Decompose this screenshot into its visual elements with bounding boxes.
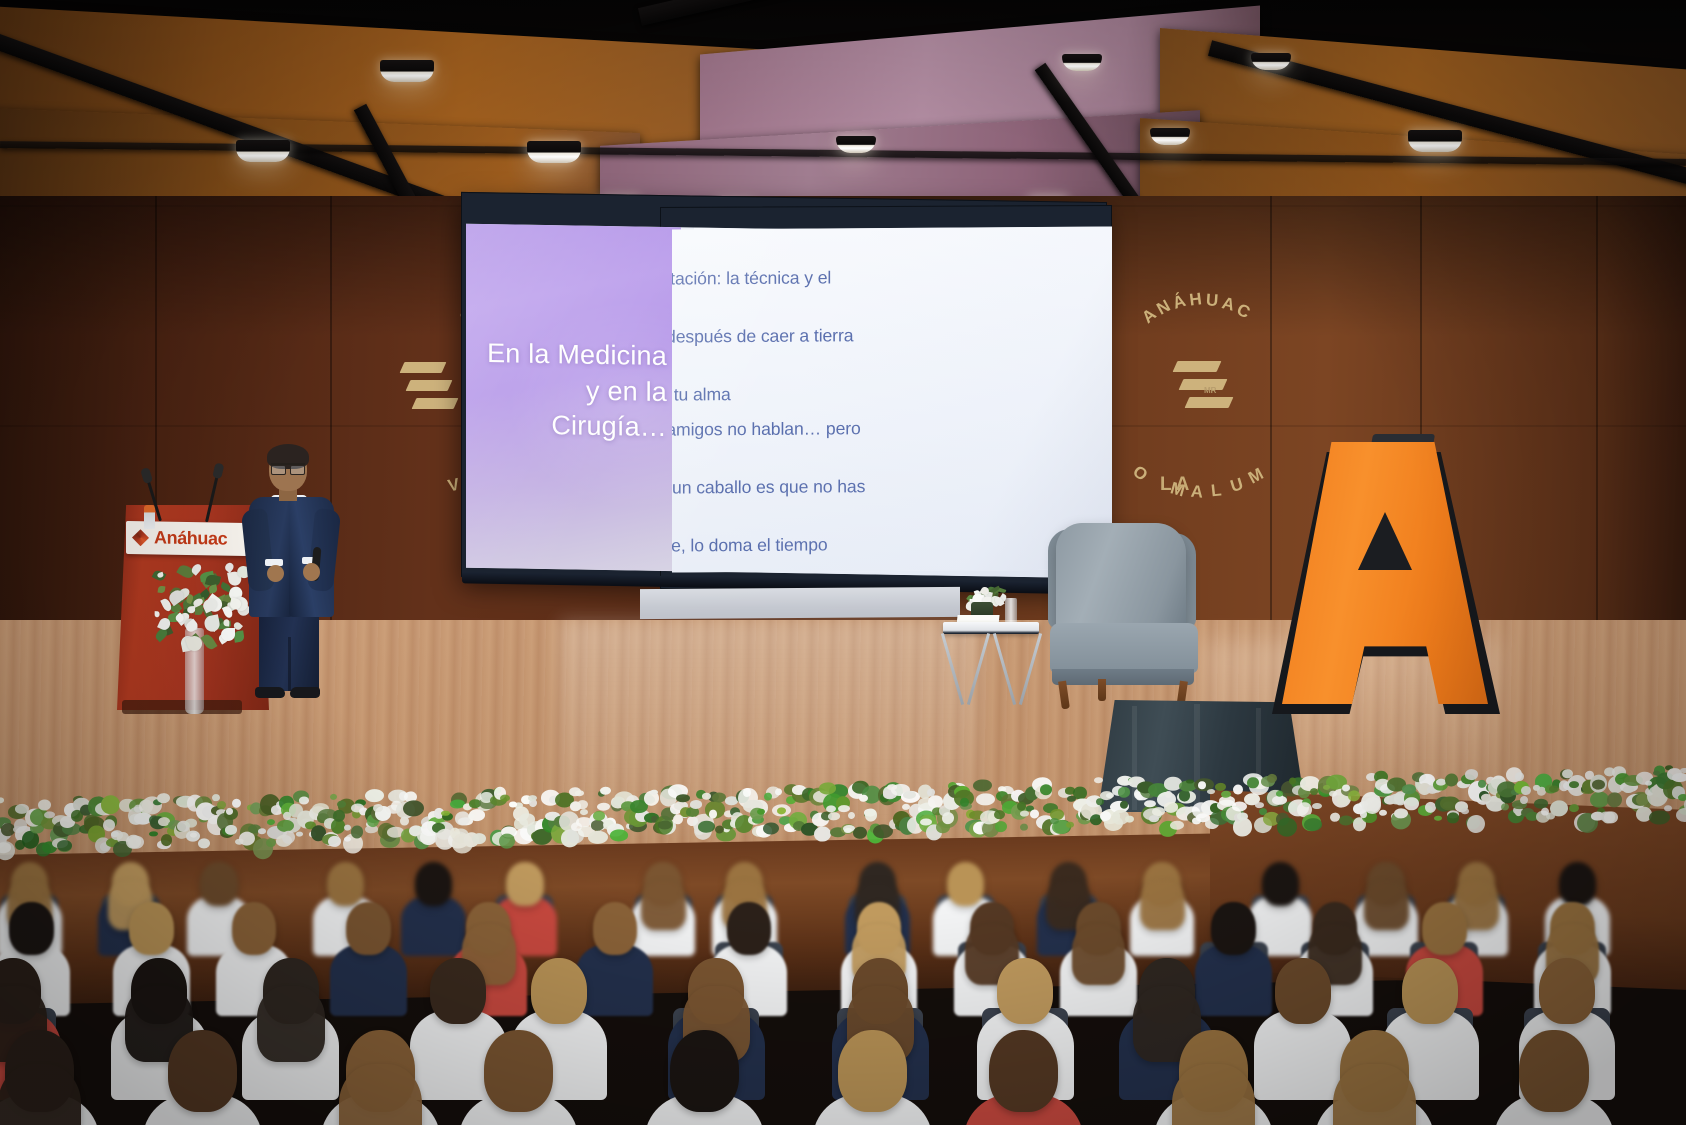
garland-floret [1592,780,1605,790]
letter-a-face [1282,442,1488,704]
audience-member-head [327,862,364,906]
anahuac-chevron-mark-icon [1169,355,1231,417]
garland-floret [1649,810,1670,825]
garland-floret [927,788,935,796]
garland-floret [575,790,584,796]
garland-floret [232,798,242,808]
audience-member-head [997,958,1053,1024]
audience-member-head [1275,958,1331,1024]
audience-member-head [346,902,391,955]
garland-floret [1404,797,1418,811]
slide-bullet: Hay dos cosas en la equitación: la técni… [672,266,890,316]
garland-floret [865,809,877,822]
audience-member-hair [0,1064,81,1125]
garland-floret [365,789,384,802]
garland-floret [1550,800,1568,817]
audience-member-hair [339,1064,422,1125]
slide-bullet: El mejor jinete es el que después de cae… [672,324,890,374]
garland-floret [1348,790,1360,801]
garland-floret [853,827,867,839]
garland-floret [1040,784,1052,795]
garland-floret [597,802,611,811]
garland-floret [1118,787,1130,798]
garland-floret [777,807,786,814]
garland-floret [763,822,779,834]
garland-floret [1094,777,1103,783]
speaker-hand [267,565,284,582]
garland-floret [1149,816,1159,823]
flower-leaf [200,632,217,651]
water-bottle [144,505,155,529]
garland-floret [973,779,992,792]
garland-floret [580,809,588,815]
audience-member-hair [1364,880,1409,930]
garland-floret [1276,791,1284,797]
garland-floret [1676,808,1686,823]
audience-member-head [670,1030,739,1112]
audience-member-head [1559,862,1596,906]
garland-floret [1277,817,1297,836]
audience-member-hair [641,880,686,930]
slide-body-continuation: Hay dos cosas en la equitación: la técni… [672,226,1112,572]
slide-title: En la Medicina y en la Cirugía… [482,336,667,446]
garland-floret [757,808,765,814]
wall-baseboard [640,587,960,619]
seal-letter: L [1210,480,1223,501]
garland-floret [1125,815,1134,822]
garland-floret [593,811,605,821]
garland-floret [1152,807,1165,816]
slide-bullet: Al caballo como al hombre, lo doma el ti… [672,533,890,560]
audience-member-hair [257,986,324,1062]
ceiling-downlight-icon [1251,53,1291,70]
audience-member-hair [1140,880,1185,930]
podium-flower-arrangement [152,560,248,650]
audience-member-head [838,1030,907,1112]
garland-floret [185,819,197,828]
garland-floret [1623,786,1634,793]
side-table-top [943,622,1039,634]
table-leg [967,633,990,705]
podium-base [122,700,242,714]
anahuac-diamond-mark-icon [132,529,149,546]
garland-floret [1339,816,1352,826]
garland-floret [1520,796,1528,804]
garland-floret [258,829,266,835]
audience-member-head [232,902,277,955]
garland-floret [1100,811,1111,822]
garland-floret [1364,797,1381,814]
garland-floret [1549,785,1560,792]
garland-floret [299,796,310,804]
garland-floret [600,787,611,795]
garland-floret [577,800,588,810]
auditorium-photo: UNIVERS VINCE I ANÁHUAC O MALUM MR LA En… [0,0,1686,1125]
slide-bullet-list-continuation: Hay dos cosas en la equitación: la técni… [672,266,890,571]
ceiling-downlight-icon [380,60,434,82]
ceiling-downlight-icon [236,140,290,162]
garland-floret [1664,805,1672,811]
garland-floret [1569,804,1579,812]
armchair-skirt [1052,669,1194,685]
garland-floret [995,821,1007,832]
garland-floret [1501,803,1509,810]
armchair-back [1056,523,1186,635]
garland-floret [960,798,969,807]
garland-floret [828,813,840,820]
garland-floret [149,831,157,836]
garland-floret [1515,772,1525,782]
garland-floret [1465,769,1478,780]
speaker-shoe [290,687,320,698]
audience-member-head [1539,958,1595,1024]
garland-floret [1198,781,1205,789]
garland-floret [709,810,717,819]
audience-member-hair [1333,1064,1416,1125]
audience-member-head [1211,902,1256,955]
ceiling-downlight-icon [1408,130,1462,152]
garland-floret [942,812,954,824]
garland-floret [1478,780,1486,787]
speaker-hand [303,563,320,581]
garland-floret [764,792,772,800]
audience-member-head [1519,1030,1588,1112]
audience-member-head [1422,902,1467,955]
flower-petal [221,628,235,641]
audience-member-head [129,902,174,955]
audience-member-head [200,862,237,906]
garland-floret [859,794,868,802]
audience-member-head [168,1030,237,1112]
garland-floret [225,825,237,835]
garland-floret [1215,783,1226,791]
flower-petal [223,619,229,626]
audience-member-head [727,902,772,955]
garland-floret [1310,788,1318,795]
garland-floret [658,820,672,829]
ceiling-downlight-icon [1150,128,1190,145]
armchair-leg [1098,679,1106,701]
audience-member-head [989,1030,1058,1112]
garland-floret [157,793,170,803]
garland-floret [455,811,470,825]
slide-accent-panel: En la Medicina y en la Cirugía… [466,224,681,572]
audience-member-hair [1072,924,1126,985]
audience-seating [0,840,1686,1125]
audience-member-hair [1172,1064,1255,1125]
flower-petal [154,611,159,617]
armchair [1040,523,1202,711]
garland-floret [1447,813,1458,824]
garland-floret [838,805,850,813]
garland-floret [1425,801,1436,812]
garland-floret [373,804,382,813]
garland-floret [976,793,995,806]
garland-floret [1233,785,1243,795]
audience-member-head [415,862,452,906]
seal-lower-text: LA [1160,474,1193,496]
anahuac-chevron-mark-icon [396,356,458,418]
garland-floret [0,797,4,803]
garland-floret [500,795,510,802]
water-glass [1005,598,1017,624]
seal-trademark: MR [1204,386,1216,395]
eyeglasses-icon [271,463,305,471]
flower-leaf [209,584,218,593]
garland-floret [819,783,835,795]
audience-member-head [1262,862,1299,906]
ceiling-downlight-icon [527,141,581,163]
garland-floret [690,800,703,809]
garland-floret [1170,820,1185,830]
garland-floret [1237,813,1248,821]
seal-letter: U [1228,474,1247,497]
audience-member-head [593,902,638,955]
slide-bullet: Algunos de mis mejores amigos no hablan…… [672,417,890,467]
garland-floret [1680,768,1686,774]
slide-bullet: Si nunca te has caído de un caballo es q… [672,475,890,525]
garland-floret [351,826,363,838]
slide-bullet: El caballo es el reflejo de tu alma [672,382,890,409]
garland-floret [1604,811,1618,823]
garland-floret [676,794,690,803]
ceiling-downlight-icon [836,136,876,153]
garland-floret [775,788,782,795]
seal-letter: M [1245,464,1268,489]
garland-floret [1461,808,1469,814]
garland-floret [1607,792,1622,807]
audience-member-head [506,862,543,906]
garland-floret [1312,803,1322,809]
speaker-person [243,447,339,705]
projection-screen-right-half: Hay dos cosas en la equitación: la técni… [672,226,1112,572]
audience-member-head [430,958,486,1024]
garland-floret [1521,786,1531,795]
garland-floret [468,813,475,819]
garland-floret [1379,809,1387,815]
garland-floret [528,795,537,801]
audience-member-head [531,958,587,1024]
garland-floret [698,820,716,832]
anahuac-letter-a-sculpture: A [1268,442,1500,714]
audience-member-head [947,862,984,906]
garland-floret [1394,808,1408,818]
podium-brand-label: Anáhuac [154,527,227,549]
garland-floret [330,794,337,800]
garland-floret [1467,815,1485,833]
garland-floret [1020,823,1028,830]
garland-floret [267,819,275,825]
side-table [943,622,1039,712]
garland-floret [333,810,345,822]
garland-floret [1590,791,1609,808]
garland-floret [1207,789,1215,794]
garland-floret [1179,790,1190,802]
table-leg [993,633,1016,705]
garland-floret [1434,816,1441,821]
garland-floret [212,794,219,801]
garland-floret [1050,818,1059,824]
armchair-seat [1050,623,1198,673]
garland-floret [1304,818,1322,831]
table-leg [941,633,964,705]
seal-letter: O [1129,462,1153,487]
garland-floret [848,812,855,819]
audience-member-head [9,902,54,955]
garland-floret [101,795,120,814]
speaker-leg-split [288,637,291,691]
garland-floret [1289,777,1297,784]
garland-floret [296,831,303,836]
garland-floret [509,802,517,807]
garland-floret [1267,773,1277,782]
audience-member-head [484,1030,553,1112]
garland-floret [38,799,51,810]
flower-petal [203,614,220,632]
flower-leaf [158,586,166,594]
garland-floret [217,801,226,809]
garland-floret [1066,821,1074,828]
garland-floret [844,828,852,833]
speaker-shoe [255,687,285,698]
garland-floret [1221,791,1231,798]
garland-floret [403,800,424,817]
table-leg [1019,633,1042,705]
ceiling-downlight-icon [1062,54,1102,71]
audience-member-head [1402,958,1458,1024]
